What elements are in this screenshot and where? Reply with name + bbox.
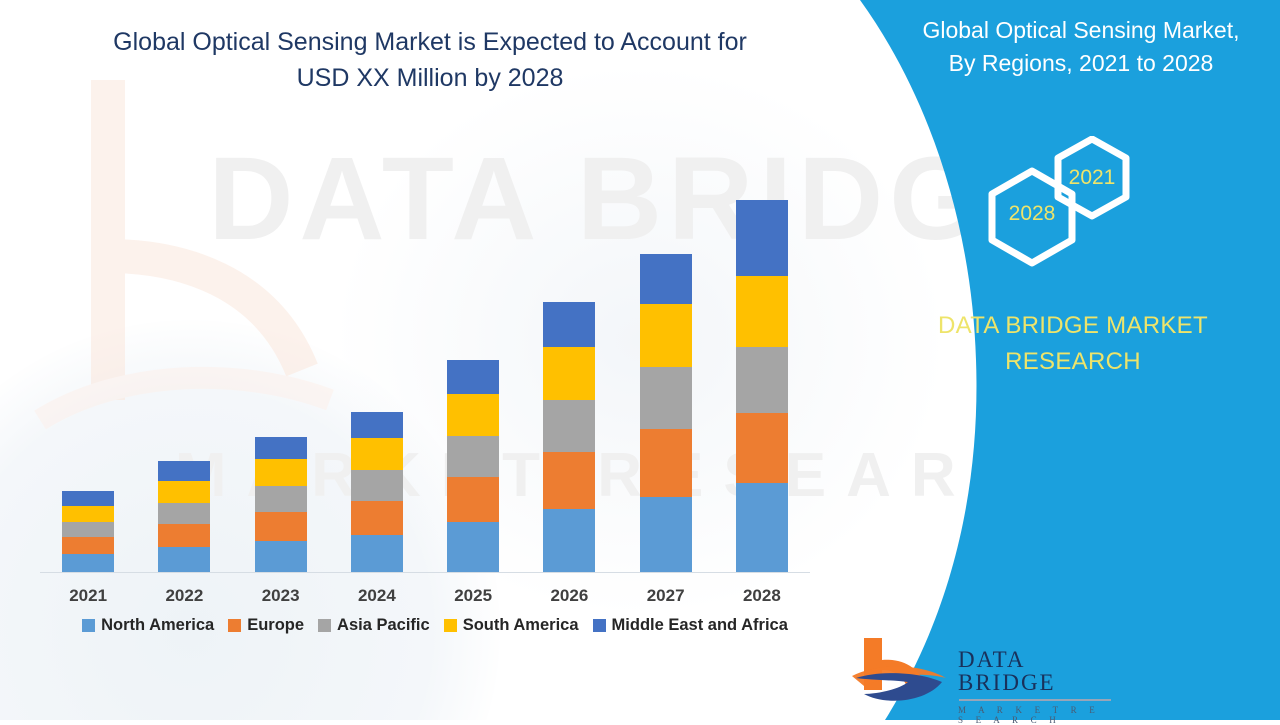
bar-segment[interactable] [62, 537, 114, 554]
legend-label: Middle East and Africa [612, 616, 788, 635]
legend-label: North America [101, 616, 214, 635]
panel-brand-text: DATA BRIDGE MARKET RESEARCH [876, 308, 1270, 380]
legend-swatch [318, 619, 331, 632]
bar-segment[interactable] [158, 524, 210, 547]
panel-title-line1: Global Optical Sensing Market, [900, 14, 1262, 47]
bar-segment[interactable] [736, 276, 788, 347]
bar-segment[interactable] [62, 554, 114, 572]
bar-segment[interactable] [736, 200, 788, 276]
panel-brand-line2: RESEARCH [876, 344, 1270, 380]
bar-segment[interactable] [640, 304, 692, 367]
bar-segment[interactable] [447, 522, 499, 572]
bar-segment[interactable] [351, 470, 403, 501]
legend-item[interactable]: Asia Pacific [318, 616, 430, 635]
hexagon-2028-label: 2028 [992, 202, 1072, 226]
bar-2023[interactable] [255, 437, 307, 572]
bar-segment[interactable] [640, 429, 692, 497]
logo-divider [959, 699, 1111, 701]
bar-segment[interactable] [351, 535, 403, 572]
bar-segment[interactable] [543, 400, 595, 452]
x-axis-label: 2027 [640, 586, 692, 606]
logo-main-text: DATA BRIDGE [958, 648, 1111, 694]
bar-segment[interactable] [447, 436, 499, 477]
bar-2027[interactable] [640, 254, 692, 572]
bar-segment[interactable] [447, 394, 499, 436]
logo-wordmark: DATA BRIDGE M A R K E T R E S E A R C H [958, 648, 1111, 725]
panel-title: Global Optical Sensing Market, By Region… [900, 14, 1262, 79]
x-axis-label: 2022 [158, 586, 210, 606]
legend-swatch [228, 619, 241, 632]
legend-label: Asia Pacific [337, 616, 430, 635]
bar-segment[interactable] [543, 302, 595, 347]
x-axis-label: 2025 [447, 586, 499, 606]
panel-content: Global Optical Sensing Market, By Region… [840, 0, 1280, 720]
page-title: Global Optical Sensing Market is Expecte… [70, 24, 790, 97]
bar-2028[interactable] [736, 200, 788, 572]
bar-segment[interactable] [62, 491, 114, 506]
company-logo: DATA BRIDGE M A R K E T R E S E A R C H [850, 634, 1082, 706]
bar-segment[interactable] [62, 522, 114, 537]
bar-2024[interactable] [351, 412, 403, 572]
legend-swatch [82, 619, 95, 632]
bar-segment[interactable] [255, 459, 307, 486]
bar-segment[interactable] [158, 503, 210, 524]
bar-segment[interactable] [543, 509, 595, 572]
panel-title-line2: By Regions, 2021 to 2028 [900, 47, 1262, 80]
bar-segment[interactable] [447, 477, 499, 522]
x-axis-labels: 20212022202320242025202620272028 [40, 586, 810, 606]
bar-segment[interactable] [62, 506, 114, 522]
bar-segment[interactable] [158, 481, 210, 503]
page-title-line1: Global Optical Sensing Market is Expecte… [70, 24, 790, 60]
x-axis-label: 2021 [62, 586, 114, 606]
page-title-line2: USD XX Million by 2028 [70, 60, 790, 96]
legend-item[interactable]: Europe [228, 616, 304, 635]
bar-2026[interactable] [543, 302, 595, 572]
hexagon-2021-label: 2021 [1058, 166, 1126, 190]
bar-segment[interactable] [543, 347, 595, 400]
legend-item[interactable]: North America [82, 616, 214, 635]
logo-sub-text: M A R K E T R E S E A R C H [958, 705, 1111, 725]
x-axis-label: 2028 [736, 586, 788, 606]
bar-segment[interactable] [640, 497, 692, 572]
bar-segment[interactable] [736, 483, 788, 572]
bar-segment[interactable] [447, 360, 499, 394]
x-axis-line [40, 572, 810, 573]
hexagon-svg [940, 136, 1260, 296]
legend-item[interactable]: South America [444, 616, 579, 635]
bar-segment[interactable] [158, 461, 210, 481]
logo-mark-icon [850, 634, 954, 704]
x-axis-label: 2024 [351, 586, 403, 606]
legend-swatch [593, 619, 606, 632]
x-axis-label: 2023 [255, 586, 307, 606]
bar-segment[interactable] [351, 438, 403, 470]
plot-area [40, 133, 810, 573]
bar-group [40, 133, 810, 572]
bar-segment[interactable] [158, 547, 210, 572]
legend-swatch [444, 619, 457, 632]
bar-segment[interactable] [255, 512, 307, 541]
bar-2022[interactable] [158, 461, 210, 572]
bar-segment[interactable] [255, 437, 307, 459]
chart-legend: North AmericaEuropeAsia PacificSouth Ame… [40, 616, 830, 635]
bar-segment[interactable] [736, 413, 788, 483]
bar-segment[interactable] [351, 501, 403, 535]
bar-segment[interactable] [640, 254, 692, 304]
stacked-bar-chart [40, 120, 810, 575]
bar-segment[interactable] [736, 347, 788, 413]
bar-segment[interactable] [640, 367, 692, 429]
bar-segment[interactable] [255, 541, 307, 572]
right-brand-panel: Global Optical Sensing Market, By Region… [840, 0, 1280, 720]
legend-label: Europe [247, 616, 304, 635]
legend-item[interactable]: Middle East and Africa [593, 616, 788, 635]
hexagon-badges: 2028 2021 [940, 136, 1260, 296]
bar-segment[interactable] [351, 412, 403, 438]
panel-brand-line1: DATA BRIDGE MARKET [876, 308, 1270, 344]
bar-segment[interactable] [543, 452, 595, 509]
legend-label: South America [463, 616, 579, 635]
bar-2021[interactable] [62, 491, 114, 572]
bar-segment[interactable] [255, 486, 307, 512]
x-axis-label: 2026 [543, 586, 595, 606]
bar-2025[interactable] [447, 360, 499, 572]
